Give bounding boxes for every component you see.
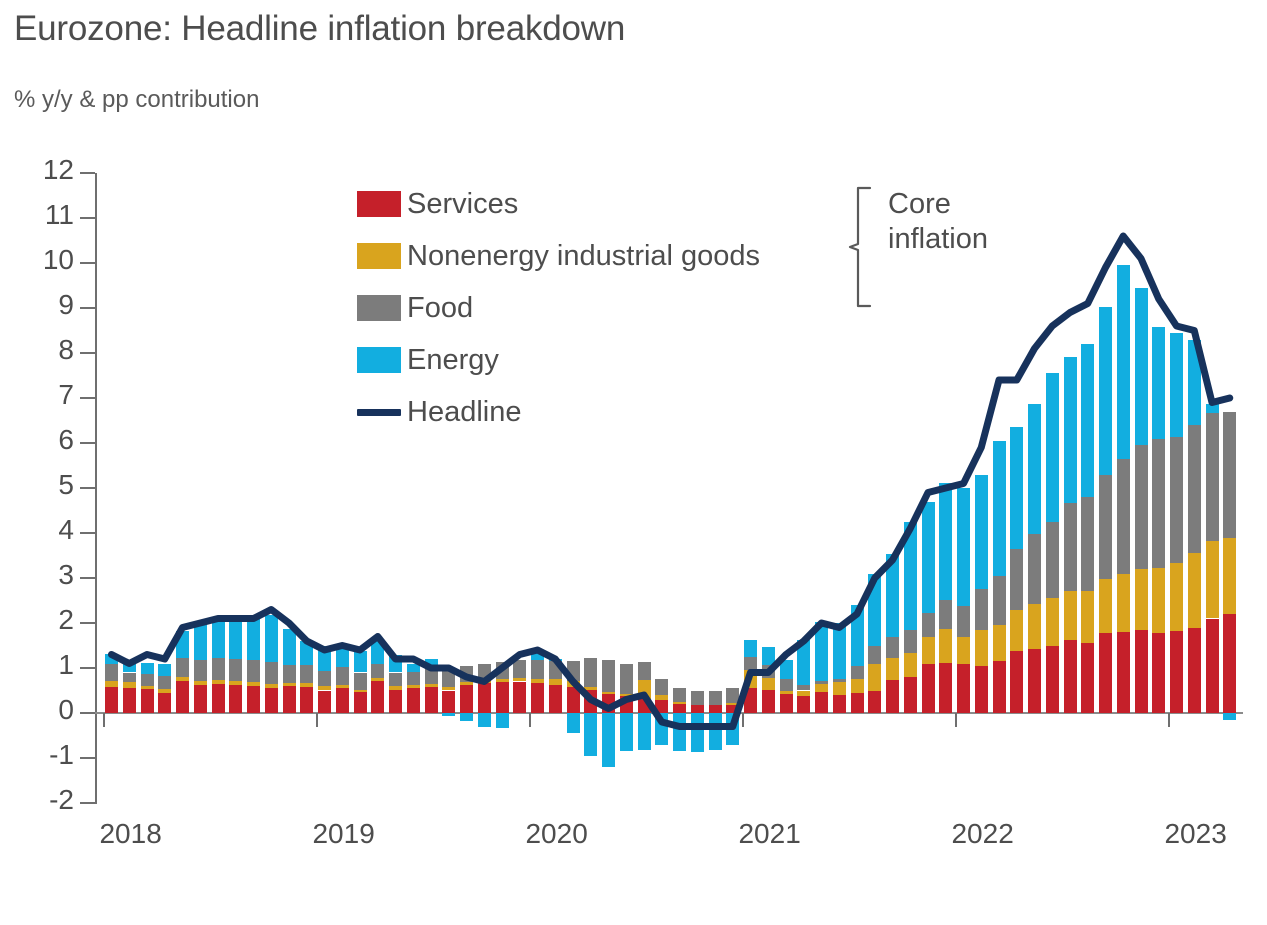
legend-label: Nonenergy industrial goods	[407, 240, 760, 273]
bar-segment-nonenergy-industrial-goods	[655, 695, 668, 700]
bar-segment-services	[833, 695, 846, 713]
legend-label: Services	[407, 188, 518, 221]
bar-segment-food	[904, 630, 917, 653]
bar-segment-nonenergy-industrial-goods	[1046, 598, 1059, 645]
bar-segment-energy	[1135, 288, 1148, 446]
bar-segment-nonenergy-industrial-goods	[283, 683, 296, 686]
bar-segment-food	[1081, 497, 1094, 592]
y-axis-tick-label: 7	[12, 381, 74, 409]
bar-segment-food	[1223, 412, 1236, 538]
bar-segment-services	[141, 689, 154, 713]
bar-segment-nonenergy-industrial-goods	[371, 678, 384, 681]
x-axis-tick	[103, 713, 105, 727]
bar-segment-nonenergy-industrial-goods	[425, 684, 438, 687]
bar-segment-food	[176, 658, 189, 677]
bar-segment-nonenergy-industrial-goods	[620, 694, 633, 696]
bar-segment-nonenergy-industrial-goods	[815, 684, 828, 692]
bar-segment-energy	[780, 660, 793, 679]
bar-segment-food	[194, 660, 207, 681]
bar-stack[interactable]	[1152, 173, 1165, 803]
bar-segment-food	[123, 673, 136, 682]
bar-segment-energy	[975, 475, 988, 590]
bar-segment-food	[229, 659, 242, 681]
bar-segment-services	[212, 684, 225, 713]
legend-label: Food	[407, 292, 473, 325]
bar-segment-food	[851, 666, 864, 680]
legend-item-nonenergy-industrial-goods[interactable]: Nonenergy industrial goods	[357, 230, 760, 282]
bar-segment-nonenergy-industrial-goods	[194, 681, 207, 685]
bar-segment-services	[1223, 614, 1236, 713]
bar-stack[interactable]	[833, 173, 846, 803]
bar-segment-energy	[549, 659, 562, 661]
bar-segment-services	[531, 683, 544, 713]
bar-stack[interactable]	[1064, 173, 1077, 803]
bar-segment-services	[673, 704, 686, 713]
bar-stack[interactable]	[993, 173, 1006, 803]
bar-segment-food	[283, 665, 296, 683]
bar-segment-food	[620, 664, 633, 693]
bar-segment-nonenergy-industrial-goods	[1223, 538, 1236, 614]
bar-segment-nonenergy-industrial-goods	[1081, 591, 1094, 643]
bar-segment-food	[762, 665, 775, 679]
bar-segment-services	[1099, 633, 1112, 713]
chart-title: Eurozone: Headline inflation breakdown	[14, 9, 625, 49]
legend-color-swatch	[357, 191, 401, 217]
bar-segment-nonenergy-industrial-goods	[780, 691, 793, 695]
bar-segment-services	[283, 686, 296, 713]
bar-segment-food	[567, 661, 580, 681]
bar-segment-services	[105, 687, 118, 713]
bar-segment-energy	[1064, 357, 1077, 503]
bar-segment-nonenergy-industrial-goods	[212, 680, 225, 684]
bar-stack[interactable]	[1206, 173, 1219, 803]
core-inflation-label-line1: Core	[888, 187, 988, 222]
bar-segment-services	[1188, 628, 1201, 714]
y-axis-tick	[80, 532, 95, 534]
x-axis-tick-label: 2022	[951, 818, 1013, 850]
bar-segment-services	[584, 690, 597, 713]
y-axis-tick	[80, 622, 95, 624]
bar-segment-services	[1206, 619, 1219, 714]
bar-segment-food	[407, 672, 420, 686]
bar-stack[interactable]	[1170, 173, 1183, 803]
bar-segment-nonenergy-industrial-goods	[584, 687, 597, 689]
bar-segment-energy	[957, 488, 970, 606]
bar-segment-energy	[726, 713, 739, 745]
y-axis-tick-label: 12	[12, 156, 74, 184]
bar-stack[interactable]	[939, 173, 952, 803]
bar-segment-services	[797, 696, 810, 713]
bar-stack[interactable]	[194, 173, 207, 803]
bar-segment-energy	[336, 649, 349, 667]
bar-segment-nonenergy-industrial-goods	[1135, 569, 1148, 630]
bar-segment-food	[993, 576, 1006, 626]
bar-segment-energy	[638, 713, 651, 750]
bar-segment-services	[354, 692, 367, 713]
bar-segment-food	[975, 589, 988, 630]
bar-segment-food	[584, 658, 597, 687]
bar-segment-energy	[762, 647, 775, 665]
y-axis-tick-label: 6	[12, 426, 74, 454]
x-axis-tick-label: 2023	[1164, 818, 1226, 850]
bar-segment-nonenergy-industrial-goods	[300, 683, 313, 687]
bar-segment-energy	[567, 713, 580, 733]
bar-stack[interactable]	[780, 173, 793, 803]
bar-segment-energy	[1152, 327, 1165, 440]
bar-segment-energy	[1099, 307, 1112, 476]
bar-segment-services	[300, 687, 313, 713]
bar-stack[interactable]	[1117, 173, 1130, 803]
bar-segment-food	[780, 679, 793, 690]
bar-segment-services	[1170, 631, 1183, 713]
bar-segment-services	[868, 691, 881, 713]
bar-segment-nonenergy-industrial-goods	[993, 625, 1006, 661]
bar-segment-energy	[691, 713, 704, 752]
bar-segment-energy	[1081, 344, 1094, 497]
legend-item-headline[interactable]: Headline	[357, 386, 760, 438]
bar-segment-food	[797, 685, 810, 690]
bar-segment-services	[318, 691, 331, 714]
bar-segment-energy	[1188, 340, 1201, 426]
bar-segment-services	[194, 685, 207, 713]
bar-segment-energy	[1170, 333, 1183, 437]
bar-segment-energy	[922, 502, 935, 612]
bar-stack[interactable]	[922, 173, 935, 803]
bar-segment-energy	[318, 646, 331, 671]
core-inflation-label: Core inflation	[888, 187, 988, 258]
bar-segment-energy	[797, 640, 810, 685]
y-axis-tick	[80, 712, 95, 714]
bar-segment-food	[158, 676, 171, 690]
bar-segment-food	[957, 606, 970, 638]
bar-segment-food	[1064, 503, 1077, 591]
bar-segment-services	[638, 699, 651, 713]
bar-stack[interactable]	[886, 173, 899, 803]
bar-segment-food	[833, 679, 846, 683]
y-axis-tick	[80, 442, 95, 444]
bar-segment-energy	[158, 664, 171, 675]
bar-segment-energy	[1046, 373, 1059, 522]
bar-segment-services	[176, 681, 189, 713]
y-axis-tick	[80, 307, 95, 309]
bar-segment-nonenergy-industrial-goods	[1010, 610, 1023, 651]
bar-segment-services	[815, 692, 828, 713]
bar-stack[interactable]	[957, 173, 970, 803]
bar-segment-energy	[300, 641, 313, 666]
y-axis-tick	[80, 667, 95, 669]
y-axis-tick-label: 10	[12, 246, 74, 274]
legend-color-swatch	[357, 295, 401, 321]
bar-segment-food	[300, 665, 313, 683]
bar-segment-energy	[283, 629, 296, 665]
chart-legend: ServicesNonenergy industrial goodsFoodEn…	[357, 178, 760, 438]
y-axis-tick	[80, 217, 95, 219]
y-axis-tick	[80, 757, 95, 759]
legend-color-swatch	[357, 347, 401, 373]
bar-segment-services	[1152, 633, 1165, 713]
bar-segment-food	[602, 660, 615, 692]
legend-label: Headline	[407, 396, 521, 429]
bar-segment-nonenergy-industrial-goods	[460, 682, 473, 685]
x-axis-tick-label: 2018	[99, 818, 161, 850]
bar-segment-services	[1064, 640, 1077, 713]
bar-stack[interactable]	[105, 173, 118, 803]
x-axis-tick	[529, 713, 531, 727]
bar-segment-services	[1028, 649, 1041, 713]
bar-segment-services	[726, 705, 739, 713]
bar-segment-services	[1081, 643, 1094, 713]
bar-segment-energy	[939, 483, 952, 600]
x-axis-tick-label: 2021	[738, 818, 800, 850]
bar-segment-energy	[265, 615, 278, 662]
bar-segment-food	[478, 664, 491, 680]
bar-segment-food	[1170, 437, 1183, 563]
bar-segment-services	[1135, 630, 1148, 713]
bar-segment-food	[673, 688, 686, 702]
bar-segment-nonenergy-industrial-goods	[531, 679, 544, 683]
bar-stack[interactable]	[1028, 173, 1041, 803]
legend-item-food[interactable]: Food	[357, 282, 760, 334]
bar-segment-food	[212, 658, 225, 680]
bar-segment-services	[939, 663, 952, 713]
bar-stack[interactable]	[1135, 173, 1148, 803]
bar-segment-nonenergy-industrial-goods	[851, 679, 864, 693]
bar-segment-food	[726, 688, 739, 702]
bar-segment-nonenergy-industrial-goods	[833, 682, 846, 695]
x-axis-tick	[1168, 713, 1170, 727]
bar-stack[interactable]	[975, 173, 988, 803]
legend-item-energy[interactable]: Energy	[357, 334, 760, 386]
bar-segment-services	[496, 682, 509, 713]
bar-stack[interactable]	[797, 173, 810, 803]
bar-segment-energy	[709, 713, 722, 750]
core-inflation-bracket-icon	[848, 186, 874, 308]
bar-segment-energy	[851, 605, 864, 666]
y-axis-tick-label: 4	[12, 516, 74, 544]
bar-segment-energy	[389, 655, 402, 672]
bar-stack[interactable]	[762, 173, 775, 803]
bar-segment-nonenergy-industrial-goods	[247, 682, 260, 686]
bar-segment-services	[567, 687, 580, 713]
bar-segment-energy	[194, 624, 207, 660]
bar-segment-services	[1046, 646, 1059, 714]
legend-item-services[interactable]: Services	[357, 178, 760, 230]
bar-segment-services	[229, 685, 242, 713]
bar-stack[interactable]	[265, 173, 278, 803]
bar-stack[interactable]	[318, 173, 331, 803]
bar-segment-services	[442, 691, 455, 714]
bar-segment-food	[389, 673, 402, 687]
bar-segment-food	[709, 691, 722, 705]
bar-segment-nonenergy-industrial-goods	[123, 682, 136, 689]
y-axis-tick-label: 3	[12, 561, 74, 589]
x-axis-tick	[742, 713, 744, 727]
bar-stack[interactable]	[229, 173, 242, 803]
bar-segment-food	[336, 667, 349, 685]
bar-segment-services	[407, 688, 420, 713]
bar-segment-energy	[815, 622, 828, 681]
legend-label: Energy	[407, 344, 499, 377]
bar-segment-services	[975, 666, 988, 713]
bar-segment-services	[478, 683, 491, 713]
y-axis-tick-label: 0	[12, 696, 74, 724]
bar-stack[interactable]	[247, 173, 260, 803]
bar-segment-nonenergy-industrial-goods	[922, 637, 935, 664]
bar-segment-services	[389, 690, 402, 713]
bar-stack[interactable]	[300, 173, 313, 803]
bar-segment-nonenergy-industrial-goods	[762, 678, 775, 689]
bar-segment-food	[105, 664, 118, 681]
bar-segment-energy	[1028, 404, 1041, 535]
bar-segment-services	[904, 677, 917, 713]
bar-stack[interactable]	[141, 173, 154, 803]
y-axis-tick-label: 1	[12, 651, 74, 679]
bar-segment-nonenergy-industrial-goods	[797, 691, 810, 696]
bar-segment-energy	[105, 654, 118, 664]
x-axis-tick	[955, 713, 957, 727]
bar-segment-energy	[212, 622, 225, 658]
bar-segment-nonenergy-industrial-goods	[229, 681, 242, 685]
bar-stack[interactable]	[1223, 173, 1236, 803]
x-axis-tick	[316, 713, 318, 727]
bar-stack[interactable]	[1099, 173, 1112, 803]
bar-segment-nonenergy-industrial-goods	[1117, 574, 1130, 633]
bar-segment-nonenergy-industrial-goods	[1028, 604, 1041, 649]
bar-segment-services	[1117, 632, 1130, 713]
bar-segment-nonenergy-industrial-goods	[442, 687, 455, 691]
bar-segment-food	[638, 662, 651, 680]
bar-segment-energy	[478, 713, 491, 727]
legend-color-swatch	[357, 243, 401, 269]
y-axis-tick-label: 5	[12, 471, 74, 499]
bar-segment-energy	[602, 713, 615, 767]
bar-segment-services	[371, 681, 384, 713]
bar-segment-services	[780, 694, 793, 713]
bar-segment-food	[1010, 549, 1023, 610]
bar-segment-services	[549, 685, 562, 713]
bar-segment-nonenergy-industrial-goods	[176, 677, 189, 680]
bar-segment-services	[158, 693, 171, 713]
bar-segment-energy	[673, 713, 686, 751]
bar-stack[interactable]	[1188, 173, 1201, 803]
bar-segment-nonenergy-industrial-goods	[673, 702, 686, 704]
bar-segment-services	[123, 688, 136, 713]
bar-stack[interactable]	[283, 173, 296, 803]
bar-segment-energy	[620, 713, 633, 751]
y-axis-tick-label: 2	[12, 606, 74, 634]
bar-segment-food	[318, 671, 331, 687]
bar-stack[interactable]	[176, 173, 189, 803]
bar-stack[interactable]	[1046, 173, 1059, 803]
bar-segment-services	[336, 688, 349, 713]
bar-segment-services	[247, 686, 260, 713]
bar-segment-services	[602, 694, 615, 713]
bar-segment-nonenergy-industrial-goods	[1064, 591, 1077, 641]
bar-segment-nonenergy-industrial-goods	[513, 678, 526, 681]
bar-stack[interactable]	[336, 173, 349, 803]
bar-segment-food	[141, 674, 154, 687]
bar-segment-nonenergy-industrial-goods	[886, 658, 899, 681]
bar-segment-services	[851, 693, 864, 713]
bar-segment-food	[922, 613, 935, 638]
bar-segment-food	[1117, 459, 1130, 574]
bar-segment-services	[513, 682, 526, 714]
bar-stack[interactable]	[904, 173, 917, 803]
bar-segment-energy	[354, 651, 367, 673]
bar-segment-energy	[833, 623, 846, 679]
bar-segment-nonenergy-industrial-goods	[975, 630, 988, 666]
y-axis-tick	[80, 397, 95, 399]
bar-segment-food	[1152, 439, 1165, 567]
bar-stack[interactable]	[212, 173, 225, 803]
bar-stack[interactable]	[1010, 173, 1023, 803]
bar-segment-food	[460, 666, 473, 682]
bar-segment-energy	[531, 652, 544, 660]
bar-segment-nonenergy-industrial-goods	[602, 692, 615, 694]
y-axis-tick	[80, 262, 95, 264]
bar-segment-food	[371, 664, 384, 678]
bar-segment-energy	[407, 664, 420, 672]
bar-segment-energy	[141, 663, 154, 674]
bar-segment-food	[655, 679, 668, 695]
bar-segment-energy	[123, 663, 136, 673]
bar-segment-services	[655, 700, 668, 714]
bar-stack[interactable]	[815, 173, 828, 803]
bar-stack[interactable]	[1081, 173, 1094, 803]
y-axis-tick	[80, 352, 95, 354]
bar-segment-services	[762, 690, 775, 713]
bar-segment-nonenergy-industrial-goods	[726, 703, 739, 705]
bar-segment-services	[993, 661, 1006, 713]
bar-segment-services	[886, 680, 899, 713]
bar-segment-food	[549, 661, 562, 679]
bar-segment-nonenergy-industrial-goods	[939, 629, 952, 663]
bar-segment-energy	[247, 619, 260, 660]
bar-stack[interactable]	[158, 173, 171, 803]
bar-segment-food	[354, 673, 367, 690]
bar-segment-nonenergy-industrial-goods	[105, 681, 118, 687]
x-axis-tick-label: 2020	[525, 818, 587, 850]
bar-segment-food	[1135, 445, 1148, 569]
x-axis-tick-label: 2019	[312, 818, 374, 850]
bar-segment-nonenergy-industrial-goods	[318, 686, 331, 690]
bar-segment-food	[1046, 522, 1059, 599]
y-axis-tick	[80, 172, 95, 174]
bar-segment-nonenergy-industrial-goods	[496, 679, 509, 682]
bar-segment-nonenergy-industrial-goods	[354, 690, 367, 692]
legend-line-swatch	[357, 409, 401, 416]
bar-segment-services	[425, 687, 438, 713]
bar-segment-nonenergy-industrial-goods	[265, 684, 278, 688]
bar-segment-nonenergy-industrial-goods	[957, 637, 970, 664]
bar-segment-food	[442, 668, 455, 687]
bar-stack[interactable]	[123, 173, 136, 803]
bar-segment-services	[957, 664, 970, 713]
bar-segment-food	[691, 691, 704, 705]
bar-segment-energy	[425, 659, 438, 667]
y-axis-tick	[80, 802, 95, 804]
y-axis-tick-label: 11	[12, 201, 74, 229]
bar-segment-food	[1206, 413, 1219, 541]
bar-segment-services	[691, 705, 704, 713]
bar-segment-energy	[176, 631, 189, 658]
bar-segment-nonenergy-industrial-goods	[1170, 563, 1183, 631]
bar-segment-energy	[1206, 404, 1219, 413]
bar-segment-food	[265, 662, 278, 684]
bar-segment-food	[513, 660, 526, 678]
bar-segment-services	[709, 705, 722, 713]
bar-segment-food	[744, 657, 757, 671]
